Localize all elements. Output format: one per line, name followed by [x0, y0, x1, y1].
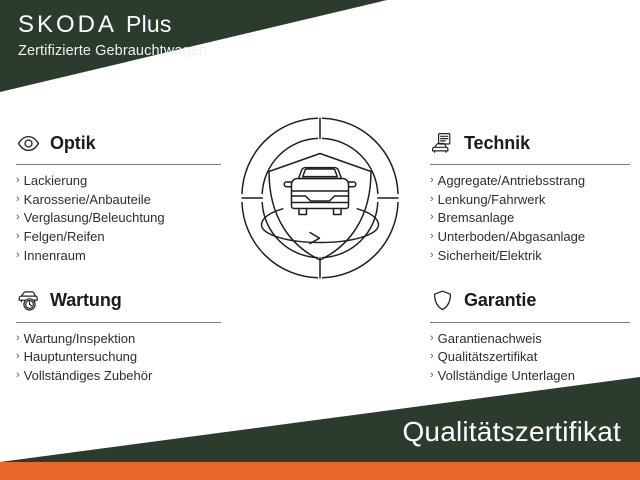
- chevron-right-icon: ›: [16, 348, 20, 365]
- section-optik-header: Optik: [16, 128, 221, 158]
- section-garantie-title: Garantie: [464, 290, 536, 311]
- section-optik-divider: [16, 164, 221, 165]
- section-technik: Technik ›Aggregate/Antriebsstrang ›Lenku…: [430, 128, 630, 266]
- list-item: ›Verglasung/Beleuchtung: [16, 209, 221, 228]
- section-wartung-list: ›Wartung/Inspektion ›Hauptuntersuchung ›…: [16, 330, 221, 386]
- column-spacer: [16, 266, 221, 286]
- section-optik-list: ›Lackierung ›Karosserie/Anbauteile ›Verg…: [16, 172, 221, 266]
- section-garantie-header: Garantie: [430, 286, 630, 316]
- section-garantie-list: ›Garantienachweis ›Qualitätszertifikat ›…: [430, 330, 630, 386]
- list-item-label: Lackierung: [24, 172, 88, 191]
- section-technik-header: Technik: [430, 128, 630, 158]
- list-item: ›Lenkung/Fahrwerk: [430, 191, 630, 210]
- list-item-label: Sicherheit/Elektrik: [438, 247, 542, 266]
- brand-name: SKODA: [18, 13, 117, 37]
- chevron-right-icon: ›: [430, 209, 434, 226]
- list-item: ›Aggregate/Antriebsstrang: [430, 172, 630, 191]
- chevron-right-icon: ›: [430, 228, 434, 245]
- list-item: ›Unterboden/Abgasanlage: [430, 228, 630, 247]
- list-item-label: Felgen/Reifen: [24, 228, 105, 247]
- chevron-right-icon: ›: [430, 172, 434, 189]
- chevron-right-icon: ›: [16, 330, 20, 347]
- list-item: ›Karosserie/Anbauteile: [16, 191, 221, 210]
- chevron-right-icon: ›: [16, 172, 20, 189]
- list-item: ›Felgen/Reifen: [16, 228, 221, 247]
- chevron-right-icon: ›: [16, 247, 20, 264]
- section-optik: Optik ›Lackierung ›Karosserie/Anbauteile…: [16, 128, 221, 266]
- chevron-right-icon: ›: [430, 367, 434, 384]
- section-wartung-title: Wartung: [50, 290, 122, 311]
- list-item: ›Wartung/Inspektion: [16, 330, 221, 349]
- list-item-label: Innenraum: [24, 247, 86, 266]
- shield-car-certification-icon: [236, 112, 404, 290]
- list-item: ›Vollständige Unterlagen: [430, 367, 630, 386]
- section-wartung-divider: [16, 322, 221, 323]
- orange-accent-bar: [0, 462, 640, 480]
- brand-subtitle: Zertifizierte Gebrauchtwagen: [18, 44, 207, 59]
- chevron-right-icon: ›: [16, 191, 20, 208]
- car-document-icon: [430, 131, 455, 156]
- list-item-label: Karosserie/Anbauteile: [24, 191, 151, 210]
- list-item: ›Garantienachweis: [430, 330, 630, 349]
- right-column: Technik ›Aggregate/Antriebsstrang ›Lenku…: [430, 128, 630, 386]
- list-item-label: Unterboden/Abgasanlage: [438, 228, 585, 247]
- brand-row: SKODA Plus: [18, 13, 207, 37]
- section-wartung-header: Wartung: [16, 286, 221, 316]
- list-item-label: Garantienachweis: [438, 330, 542, 349]
- list-item-label: Wartung/Inspektion: [24, 330, 136, 349]
- list-item-label: Aggregate/Antriebsstrang: [438, 172, 585, 191]
- brand-suffix: Plus: [126, 13, 172, 36]
- section-garantie-divider: [430, 322, 630, 323]
- footer-title: Qualitätszertifikat: [402, 416, 621, 448]
- section-technik-divider: [430, 164, 630, 165]
- list-item-label: Hauptuntersuchung: [24, 348, 137, 367]
- list-item-label: Verglasung/Beleuchtung: [24, 209, 165, 228]
- list-item: ›Lackierung: [16, 172, 221, 191]
- list-item: ›Hauptuntersuchung: [16, 348, 221, 367]
- left-column: Optik ›Lackierung ›Karosserie/Anbauteile…: [16, 128, 221, 386]
- list-item: ›Qualitätszertifikat: [430, 348, 630, 367]
- list-item-label: Qualitätszertifikat: [438, 348, 538, 367]
- car-clock-icon: [16, 288, 41, 313]
- chevron-right-icon: ›: [430, 191, 434, 208]
- list-item: ›Innenraum: [16, 247, 221, 266]
- section-technik-list: ›Aggregate/Antriebsstrang ›Lenkung/Fahrw…: [430, 172, 630, 266]
- chevron-right-icon: ›: [16, 228, 20, 245]
- list-item-label: Vollständiges Zubehör: [24, 367, 153, 386]
- section-garantie: Garantie ›Garantienachweis ›Qualitätszer…: [430, 286, 630, 386]
- brand-logo: SKODA Plus Zertifizierte Gebrauchtwagen: [18, 13, 207, 59]
- list-item: ›Bremsanlage: [430, 209, 630, 228]
- list-item-label: Bremsanlage: [438, 209, 515, 228]
- chevron-right-icon: ›: [430, 348, 434, 365]
- list-item-label: Vollständige Unterlagen: [438, 367, 575, 386]
- section-wartung: Wartung ›Wartung/Inspektion ›Hauptunters…: [16, 286, 221, 386]
- chevron-right-icon: ›: [16, 209, 20, 226]
- section-optik-title: Optik: [50, 133, 96, 154]
- list-item-label: Lenkung/Fahrwerk: [438, 191, 546, 210]
- certificate-page: SKODA Plus Zertifizierte Gebrauchtwagen: [0, 0, 640, 480]
- eye-icon: [16, 131, 41, 156]
- shield-icon: [430, 288, 455, 313]
- chevron-right-icon: ›: [430, 330, 434, 347]
- list-item: ›Vollständiges Zubehör: [16, 367, 221, 386]
- chevron-right-icon: ›: [16, 367, 20, 384]
- section-technik-title: Technik: [464, 133, 530, 154]
- list-item: ›Sicherheit/Elektrik: [430, 247, 630, 266]
- chevron-right-icon: ›: [430, 247, 434, 264]
- column-spacer: [430, 266, 630, 286]
